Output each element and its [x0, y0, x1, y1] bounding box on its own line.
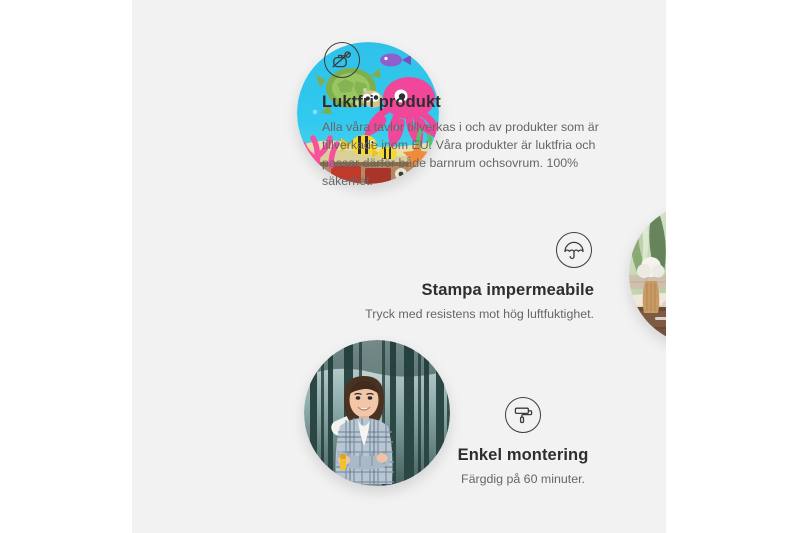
woman-with-paint-roller-forest-wallpaper-photo [304, 340, 450, 486]
feature-title: Enkel montering [430, 445, 616, 466]
feature-title: Luktfri produkt [322, 92, 632, 113]
feature-title: Stampa impermeabile [292, 280, 594, 301]
feature-body: Alla våra tavlor tillverkas i och av pro… [322, 119, 617, 191]
infographic-stage: Luktfri produkt Alla våra tavlor tillver… [0, 0, 800, 533]
infographic-panel: Luktfri produkt Alla våra tavlor tillver… [132, 0, 666, 533]
umbrella-icon [556, 232, 592, 268]
feature-enkel-montering: Enkel montering Färgdig på 60 minuter. [430, 397, 616, 489]
no-odour-perfume-bottle-icon [324, 42, 360, 78]
feature-body: Färgdig på 60 minuter. [430, 471, 616, 489]
feature-stampa-impermeabile: Stampa impermeabile Tryck med resistens … [292, 232, 594, 324]
feature-luktfri-produkt: Luktfri produkt Alla våra tavlor tillver… [322, 42, 632, 191]
bathroom-vanity-botanical-wallpaper-photo [629, 203, 666, 345]
feature-body: Tryck med resistens mot hög luftfuktighe… [292, 306, 594, 324]
paint-roller-icon [505, 397, 541, 433]
